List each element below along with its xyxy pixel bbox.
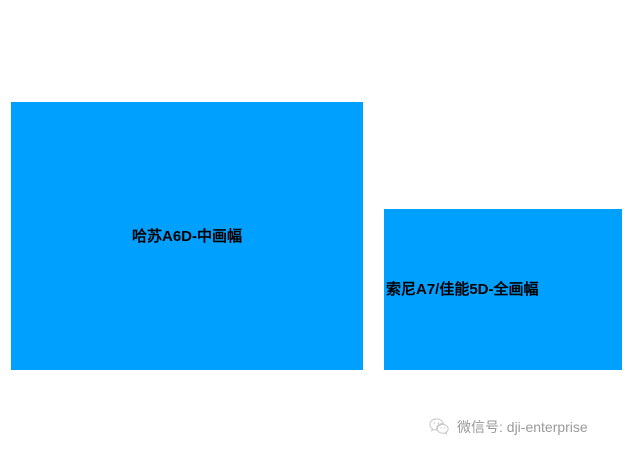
watermark: 微信号: dji-enterprise [428, 416, 588, 438]
wechat-icon [428, 416, 450, 438]
sensor-label-full-frame: 索尼A7/佳能5D-全画幅 [386, 282, 539, 297]
watermark-text: 微信号: dji-enterprise [457, 420, 588, 434]
diagram-canvas: 哈苏A6D-中画幅 索尼A7/佳能5D-全画幅 微信号: dji-enterpr… [0, 0, 640, 463]
sensor-label-medium-format: 哈苏A6D-中画幅 [11, 229, 363, 244]
